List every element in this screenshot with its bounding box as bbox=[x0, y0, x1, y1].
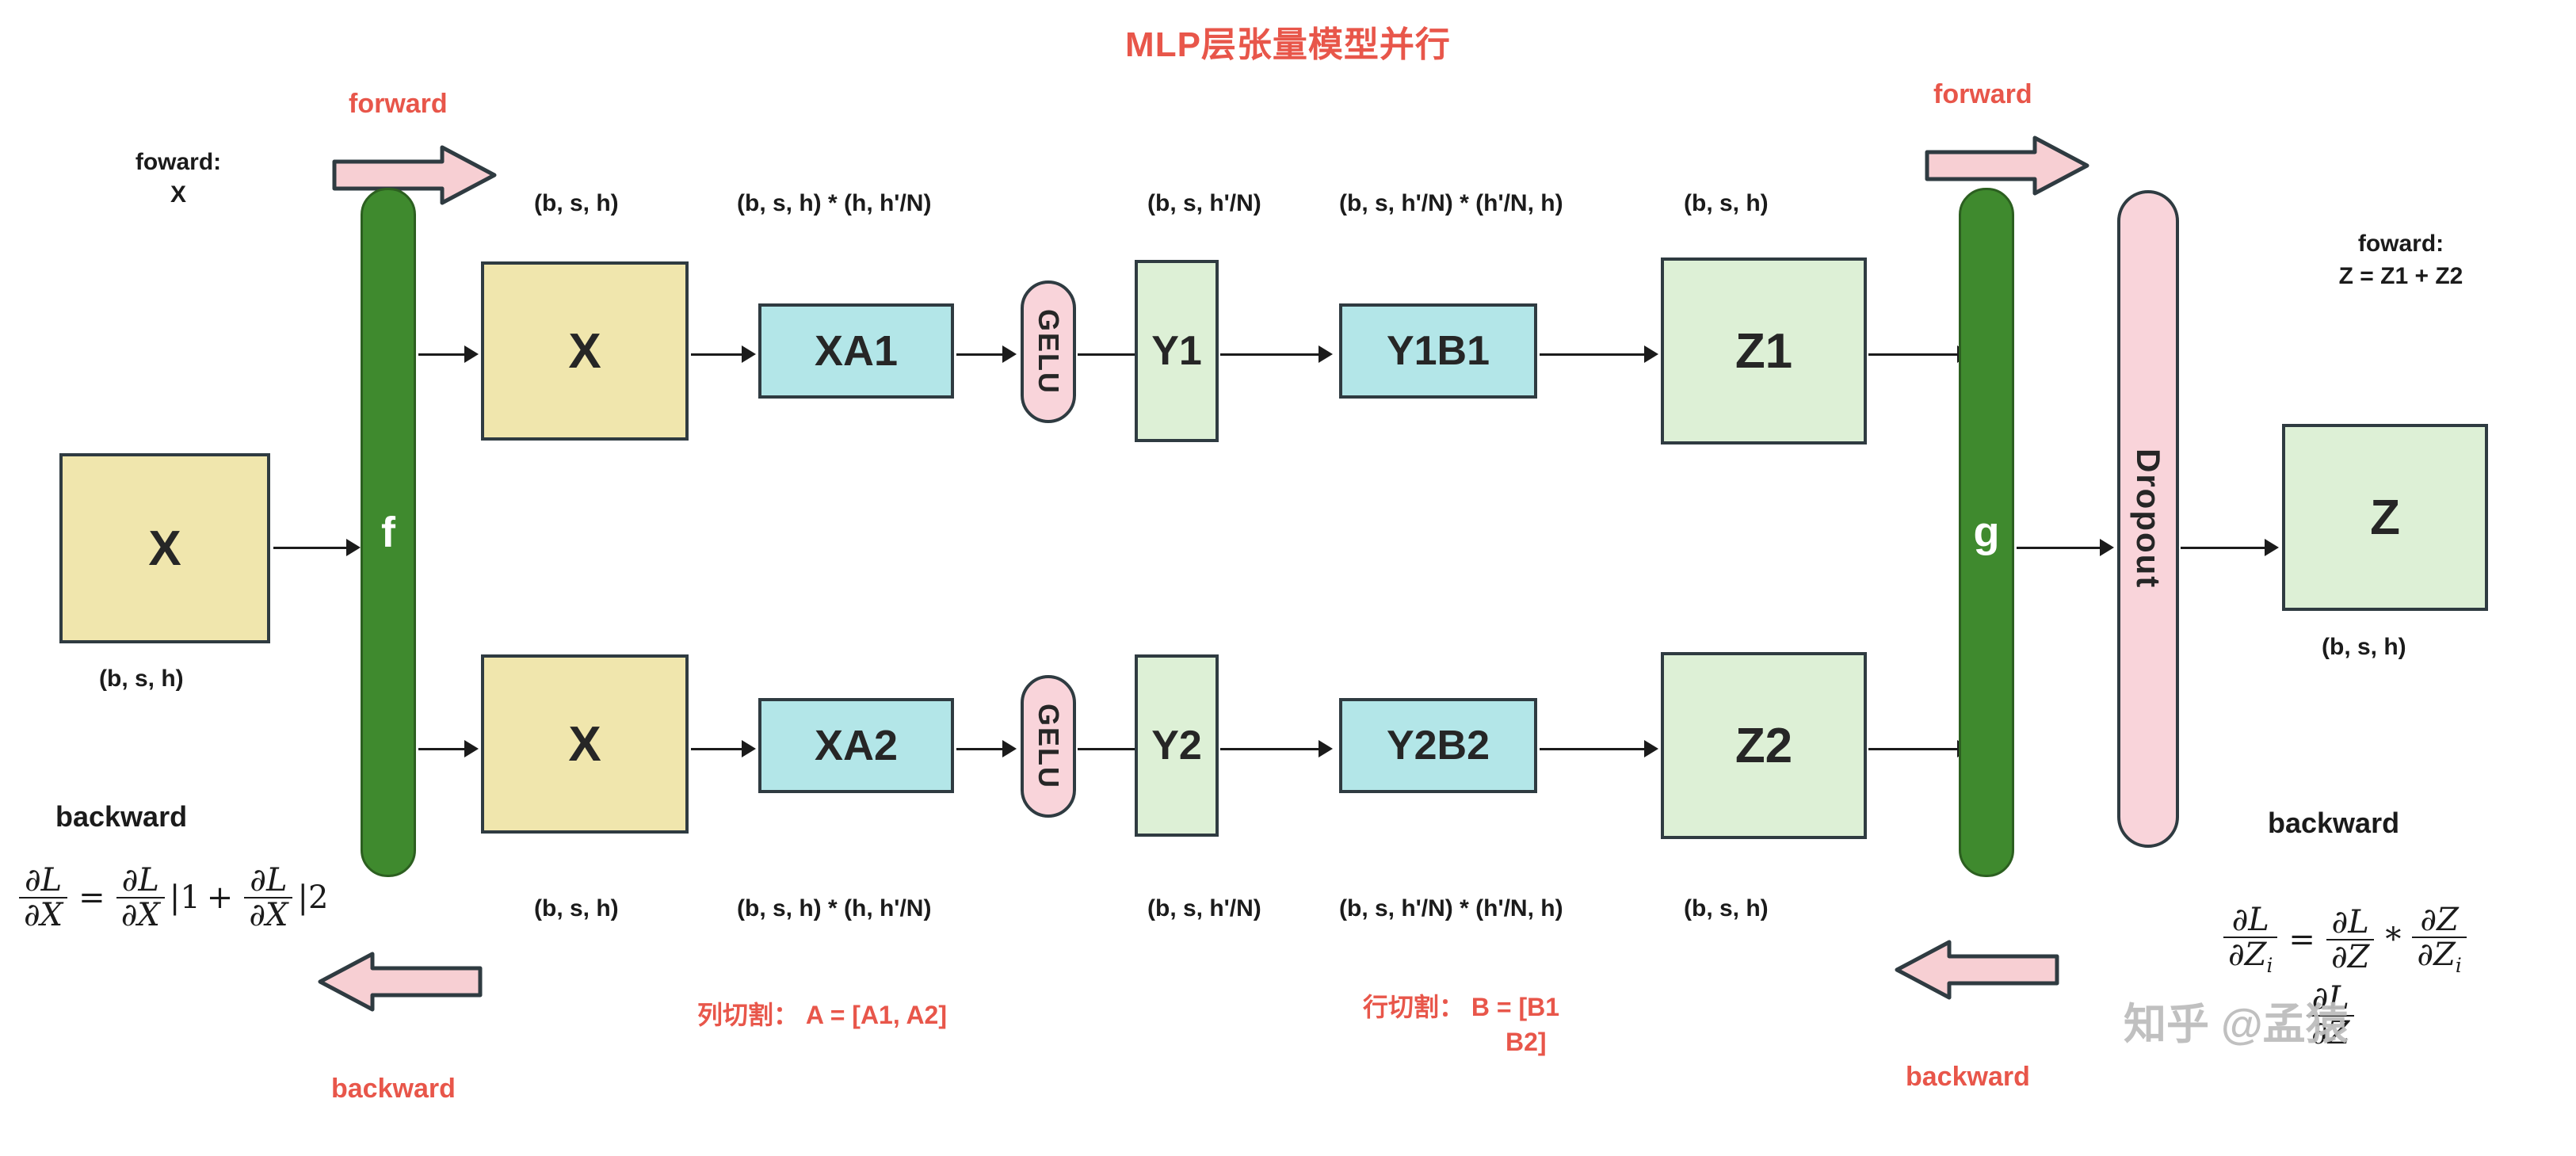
connector-y1b1-to-z1 bbox=[1540, 353, 1647, 356]
bottom-dim-3: (b, s, h'/N) bbox=[1147, 895, 1261, 922]
bottom-xa2-label: XA2 bbox=[815, 721, 898, 770]
connector-botx-to-xa2 bbox=[691, 748, 745, 750]
left-formula-t1-sup: |1 bbox=[170, 879, 200, 916]
g-bar: g bbox=[1959, 188, 2014, 877]
diagram-canvas: MLP层张量模型并行 foward: X forward X (b, s, h)… bbox=[0, 0, 2576, 1156]
input-x-box: X bbox=[59, 453, 270, 643]
left-formula-eq: = bbox=[78, 879, 105, 916]
backward-block-arrow-right bbox=[1894, 939, 2060, 1001]
connector-y2-to-y2b2 bbox=[1220, 748, 1322, 750]
forward-block-arrow-right bbox=[1924, 135, 2090, 196]
connector-y2-to-y2b2-arrowhead bbox=[1319, 740, 1333, 757]
top-gelu-pill: GELU bbox=[1021, 280, 1076, 423]
connector-y2b2-to-z2-arrowhead bbox=[1644, 740, 1658, 757]
backward-label-left: backward bbox=[331, 1074, 456, 1104]
left-backward-formula: ∂L ∂X = ∂L ∂X |1 + ∂L ∂X |2 bbox=[14, 864, 328, 932]
output-z-dim: (b, s, h) bbox=[2322, 634, 2406, 661]
left-forward-note-line2: X bbox=[111, 179, 246, 212]
top-gelu-label: GELU bbox=[1032, 309, 1065, 395]
connector-y2b2-to-z2 bbox=[1540, 748, 1647, 750]
output-z-label: Z bbox=[2370, 490, 2400, 546]
left-formula-t1-den: ∂X bbox=[116, 897, 165, 932]
top-y1-label: Y1 bbox=[1151, 327, 1202, 375]
bottom-y2-box: Y2 bbox=[1135, 654, 1219, 837]
top-z1-box: Z1 bbox=[1661, 258, 1867, 444]
left-formula-t2: ∂L ∂X bbox=[244, 864, 292, 932]
backward-label-right: backward bbox=[1906, 1062, 2030, 1093]
connector-gelu-to-y2 bbox=[1078, 748, 1141, 750]
top-y1b1-box: Y1B1 bbox=[1339, 303, 1537, 399]
dropout-label: Dropout bbox=[2129, 448, 2167, 589]
connector-xa2-to-gelu-arrowhead bbox=[1002, 740, 1017, 757]
right-formula-lhs-num: ∂L bbox=[2227, 903, 2274, 937]
forward-label-left: forward bbox=[349, 89, 448, 120]
connector-z1-to-g bbox=[1868, 353, 1960, 356]
left-forward-note: foward: X bbox=[111, 147, 246, 211]
row-split-note-line1: 行切割： B = [B1 bbox=[1363, 989, 1559, 1025]
left-formula-lhs-num: ∂L bbox=[20, 864, 67, 897]
bottom-x-box: X bbox=[481, 654, 689, 834]
forward-block-arrow-left bbox=[331, 144, 498, 206]
bottom-dim-5: (b, s, h) bbox=[1684, 895, 1769, 922]
top-y1b1-label: Y1B1 bbox=[1387, 327, 1490, 375]
connector-topx-to-xa1-arrowhead bbox=[742, 345, 756, 363]
top-dim-3: (b, s, h'/N) bbox=[1147, 190, 1261, 217]
connector-f-to-bottom-arrowhead bbox=[464, 740, 479, 757]
input-x-label: X bbox=[148, 521, 181, 577]
left-formula-lhs-den: ∂X bbox=[19, 897, 67, 932]
connector-y1b1-to-z1-arrowhead bbox=[1644, 345, 1658, 363]
bottom-dim-2: (b, s, h) * (h, h'/N) bbox=[737, 895, 931, 922]
bottom-dim-4: (b, s, h'/N) * (h'/N, h) bbox=[1339, 895, 1563, 922]
input-x-dim: (b, s, h) bbox=[99, 666, 184, 692]
connector-y1-to-y1b1-arrowhead bbox=[1319, 345, 1333, 363]
bottom-gelu-label: GELU bbox=[1032, 704, 1065, 789]
connector-g-to-dropout-arrowhead bbox=[2100, 539, 2114, 556]
right-backward-formula: ∂L ∂Zi = ∂L ∂Z * ∂Z ∂Zi bbox=[2219, 903, 2471, 976]
right-formula-t2: ∂Z ∂Zi bbox=[2412, 903, 2466, 976]
bottom-xa2-box: XA2 bbox=[758, 698, 954, 793]
connector-x-to-f-arrowhead bbox=[346, 539, 361, 556]
connector-dropout-to-z-arrowhead bbox=[2265, 539, 2279, 556]
f-bar: f bbox=[361, 188, 416, 877]
right-formula-mul: * bbox=[2385, 921, 2401, 958]
left-backward-note: backward bbox=[55, 800, 187, 834]
connector-xa1-to-gelu bbox=[956, 353, 1006, 356]
right-formula-t2-num: ∂Z bbox=[2415, 903, 2463, 937]
output-z-box: Z bbox=[2282, 424, 2488, 611]
page-title: MLP层张量模型并行 bbox=[0, 16, 2576, 67]
connector-xa1-to-gelu-arrowhead bbox=[1002, 345, 1017, 363]
connector-xa2-to-gelu bbox=[956, 748, 1006, 750]
top-x-label: X bbox=[568, 323, 601, 380]
connector-y1-to-y1b1 bbox=[1220, 353, 1322, 356]
connector-g-to-dropout bbox=[2017, 547, 2102, 549]
bottom-x-label: X bbox=[568, 716, 601, 773]
left-formula-t1-num: ∂L bbox=[117, 864, 164, 897]
top-dim-4: (b, s, h'/N) * (h'/N, h) bbox=[1339, 190, 1563, 217]
right-formula-t1-num: ∂L bbox=[2327, 906, 2374, 939]
f-bar-label: f bbox=[381, 508, 395, 557]
left-formula-t2-den: ∂X bbox=[244, 897, 292, 932]
left-formula-t2-num: ∂L bbox=[245, 864, 292, 897]
watermark: 知乎 @孟猿 bbox=[2124, 989, 2349, 1051]
connector-f-to-top bbox=[418, 353, 467, 356]
forward-label-right: forward bbox=[1933, 79, 2032, 110]
bottom-z2-label: Z2 bbox=[1735, 718, 1792, 774]
right-formula-lhs-den: ∂Zi bbox=[2223, 937, 2277, 976]
top-dim-2: (b, s, h) * (h, h'/N) bbox=[737, 190, 931, 217]
backward-block-arrow-left bbox=[317, 951, 483, 1013]
left-formula-t1: ∂L ∂X bbox=[116, 864, 165, 932]
bottom-dim-1: (b, s, h) bbox=[534, 895, 619, 922]
column-split-note: 列切割： A = [A1, A2] bbox=[697, 997, 947, 1033]
top-dim-1: (b, s, h) bbox=[534, 190, 619, 217]
top-xa1-label: XA1 bbox=[815, 326, 898, 376]
dropout-pill: Dropout bbox=[2117, 190, 2179, 848]
left-forward-note-line1: foward: bbox=[111, 147, 246, 179]
connector-dropout-to-z bbox=[2181, 547, 2268, 549]
right-forward-note: foward: Z = Z1 + Z2 bbox=[2282, 228, 2520, 292]
g-bar-label: g bbox=[1974, 508, 2000, 557]
left-formula-lhs: ∂L ∂X bbox=[19, 864, 67, 932]
left-formula-t2-sup: |2 bbox=[297, 879, 328, 916]
right-formula-lhs: ∂L ∂Zi bbox=[2223, 903, 2277, 976]
connector-topx-to-xa1 bbox=[691, 353, 745, 356]
connector-x-to-f bbox=[273, 547, 349, 549]
bottom-gelu-pill: GELU bbox=[1021, 675, 1076, 818]
right-formula-t2-den: ∂Zi bbox=[2412, 937, 2466, 976]
top-x-box: X bbox=[481, 261, 689, 441]
right-forward-note-line2: Z = Z1 + Z2 bbox=[2282, 261, 2520, 293]
connector-f-to-top-arrowhead bbox=[464, 345, 479, 363]
bottom-y2b2-label: Y2B2 bbox=[1387, 722, 1490, 769]
top-y1-box: Y1 bbox=[1135, 260, 1219, 442]
top-z1-label: Z1 bbox=[1735, 323, 1792, 380]
connector-botx-to-xa2-arrowhead bbox=[742, 740, 756, 757]
top-dim-5: (b, s, h) bbox=[1684, 190, 1769, 217]
right-formula-t1: ∂L ∂Z bbox=[2326, 906, 2374, 974]
connector-z2-to-g bbox=[1868, 748, 1960, 750]
right-forward-note-line1: foward: bbox=[2282, 228, 2520, 261]
row-split-note-line2: B2] bbox=[1506, 1024, 1547, 1060]
right-formula-eq: = bbox=[2288, 921, 2315, 958]
right-formula-t1-den: ∂Z bbox=[2326, 939, 2374, 974]
connector-f-to-bottom bbox=[418, 748, 467, 750]
left-formula-plus: + bbox=[207, 879, 234, 916]
top-xa1-box: XA1 bbox=[758, 303, 954, 399]
bottom-y2b2-box: Y2B2 bbox=[1339, 698, 1537, 793]
right-backward-note: backward bbox=[2268, 807, 2399, 840]
bottom-z2-box: Z2 bbox=[1661, 652, 1867, 839]
connector-gelu-to-y1 bbox=[1078, 353, 1141, 356]
bottom-y2-label: Y2 bbox=[1151, 722, 1202, 769]
